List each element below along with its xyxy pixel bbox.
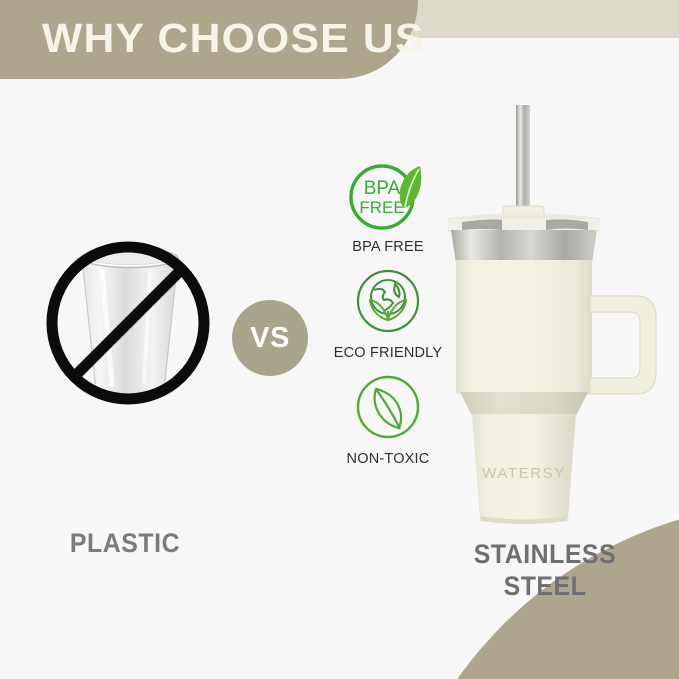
stainless-steel-label: STAINLESS STEEL [430,538,660,602]
stainless-steel-tumbler-icon: WATERSY [440,100,679,530]
stainless-steel-label-line2: STEEL [430,570,660,602]
svg-text:BPA: BPA [364,178,401,199]
vs-badge: VS [232,300,308,376]
badge-caption: NON-TOXIC [318,451,458,467]
page-title: WHY CHOOSE US [42,14,425,62]
bpa-free-leaf-badge-icon: BPA FREE [318,158,458,236]
prohibition-sign-icon [43,238,213,408]
brand-logo-text: WATERSY [482,465,566,482]
badge-non-toxic: NON-TOXIC [318,370,458,467]
plastic-label: PLASTIC [10,528,240,559]
stainless-steel-label-line1: STAINLESS [430,538,660,570]
badge-eco-friendly: ECO FRIENDLY [318,264,458,361]
leaf-badge-icon [318,370,458,448]
badge-bpa-free: BPA FREE BPA FREE [318,158,458,255]
badge-caption: BPA FREE [318,239,458,255]
feature-badge-list: BPA FREE BPA FREE EC [318,158,458,476]
globe-leaves-badge-icon [318,264,458,342]
infographic-canvas: WHY CHOOSE US [0,0,679,679]
badge-caption: ECO FRIENDLY [318,345,458,361]
svg-text:FREE: FREE [359,198,404,217]
